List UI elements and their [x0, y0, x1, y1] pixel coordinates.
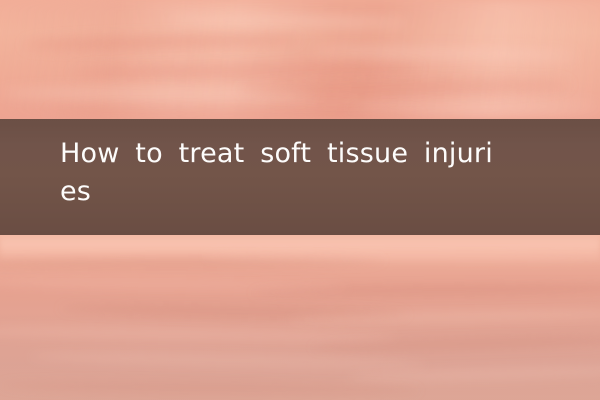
poster-title: How to treat soft tissue injuri es: [60, 135, 493, 211]
title-overlay-band: How to treat soft tissue injuri es: [0, 119, 600, 235]
sand-shading: [0, 312, 600, 400]
poster-image: How to treat soft tissue injuri es: [0, 0, 600, 400]
